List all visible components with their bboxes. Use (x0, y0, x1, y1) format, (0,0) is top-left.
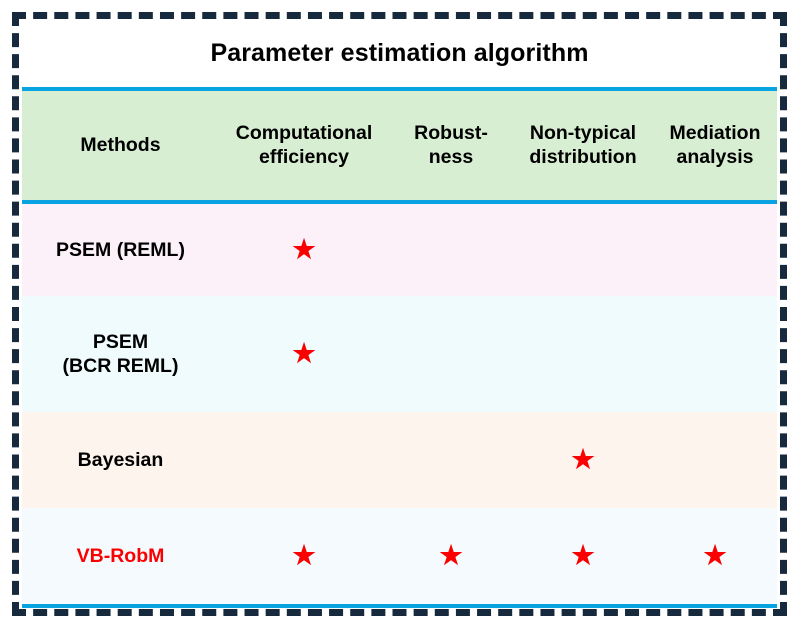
cell-non-typical-distribution: ★ (513, 542, 653, 570)
comparison-table: Parameter estimation algorithm Methods C… (22, 20, 777, 608)
star-icon: ★ (292, 542, 315, 568)
table-header-row: Methods Computational efficiency Robust-… (22, 91, 777, 200)
star-icon: ★ (571, 542, 594, 568)
row-method-label-line1: Bayesian (24, 448, 217, 472)
column-header-robustness-line2: ness (391, 146, 511, 170)
column-header-mediation-analysis-line2: analysis (655, 146, 775, 170)
table-title-band: Parameter estimation algorithm (22, 20, 777, 87)
figure-container: Parameter estimation algorithm Methods C… (0, 0, 799, 628)
cell-mediation-analysis (653, 342, 777, 366)
column-header-non-typical-distribution: Non-typical distribution (513, 122, 653, 170)
cell-non-typical-distribution (513, 342, 653, 366)
table-row: VB-RobM ★ ★ ★ ★ (22, 508, 777, 604)
star-icon: ★ (439, 542, 462, 568)
table-row: PSEM (BCR REML) ★ (22, 296, 777, 412)
cell-computational-efficiency (219, 448, 389, 472)
table-row: Bayesian ★ (22, 412, 777, 508)
column-header-computational-efficiency: Computational efficiency (219, 122, 389, 170)
row-method-label-line1: VB-RobM (24, 544, 217, 568)
column-header-methods: Methods (22, 134, 219, 158)
row-method-label-line1: PSEM (REML) (24, 238, 217, 262)
star-icon: ★ (292, 340, 315, 366)
cell-computational-efficiency: ★ (219, 340, 389, 368)
cell-computational-efficiency: ★ (219, 236, 389, 264)
cell-robustness (389, 238, 513, 262)
cell-computational-efficiency: ★ (219, 542, 389, 570)
row-method-label: PSEM (BCR REML) (22, 330, 219, 379)
column-header-mediation-analysis: Mediation analysis (653, 122, 777, 170)
star-icon: ★ (703, 542, 726, 568)
column-header-non-typical-distribution-line1: Non-typical (515, 122, 651, 146)
row-method-label-line2: (BCR REML) (24, 354, 217, 378)
row-method-label-line1: PSEM (24, 330, 217, 354)
row-method-label: VB-RobM (22, 544, 219, 568)
divider-bottom (22, 604, 777, 608)
column-header-non-typical-distribution-line2: distribution (515, 146, 651, 170)
column-header-robustness-line1: Robust- (391, 122, 511, 146)
cell-mediation-analysis: ★ (653, 542, 777, 570)
star-icon: ★ (571, 446, 594, 472)
column-header-robustness: Robust- ness (389, 122, 513, 170)
column-header-computational-efficiency-line1: Computational (221, 122, 387, 146)
row-method-label: Bayesian (22, 448, 219, 472)
table-row: PSEM (REML) ★ (22, 204, 777, 296)
star-icon: ★ (292, 236, 315, 262)
column-header-methods-line1: Methods (24, 134, 217, 158)
column-header-mediation-analysis-line1: Mediation (655, 122, 775, 146)
row-method-label: PSEM (REML) (22, 238, 219, 262)
cell-robustness (389, 342, 513, 366)
column-header-computational-efficiency-line2: efficiency (221, 146, 387, 170)
cell-robustness (389, 448, 513, 472)
page-title: Parameter estimation algorithm (210, 39, 588, 68)
cell-non-typical-distribution: ★ (513, 446, 653, 474)
cell-non-typical-distribution (513, 238, 653, 262)
cell-mediation-analysis (653, 448, 777, 472)
cell-robustness: ★ (389, 542, 513, 570)
cell-mediation-analysis (653, 238, 777, 262)
